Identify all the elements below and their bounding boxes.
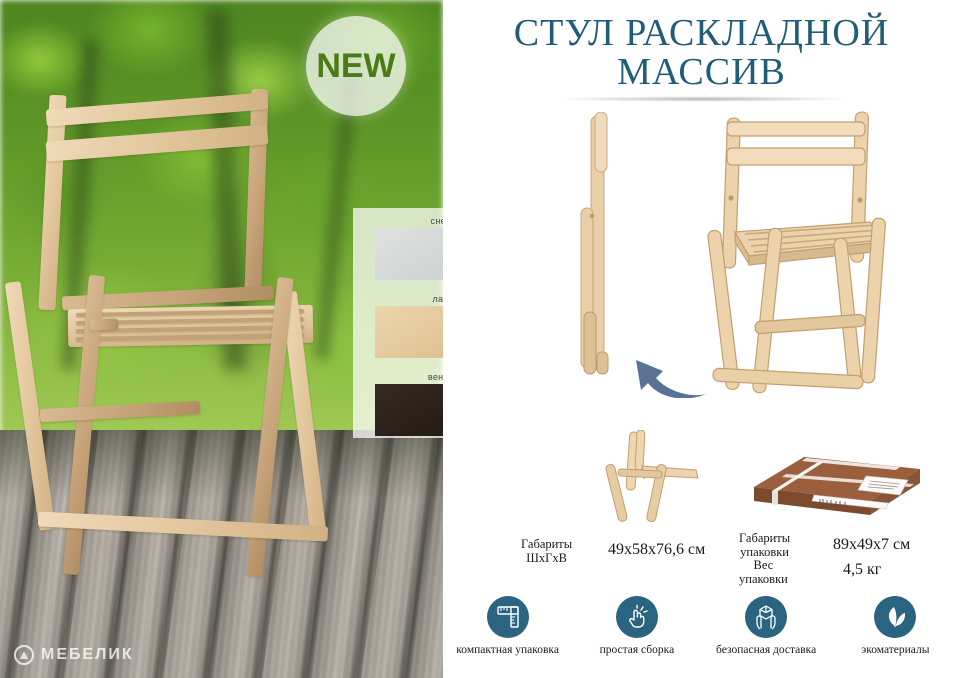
brand-logo: МЕБЕЛИК xyxy=(14,645,134,665)
spec-weight-key: Вес упаковки xyxy=(739,558,788,587)
folded-chair-render xyxy=(575,112,623,387)
feature-icon-badge xyxy=(487,596,529,638)
spec-weight-key-line2: упаковки xyxy=(739,572,788,586)
flat-cardboard-box-render xyxy=(748,443,926,523)
open-chair-render xyxy=(705,110,925,395)
spec-package-value: 89x49x7 см xyxy=(833,536,910,554)
new-badge: NEW xyxy=(306,16,406,116)
spec-dimensions-value: 49x58x76,6 см xyxy=(608,541,705,559)
feature-icon-badge xyxy=(874,596,916,638)
brand-name: МЕБЕЛИК xyxy=(41,646,134,664)
title-divider xyxy=(498,96,908,102)
side-chair-render xyxy=(600,430,720,525)
spec-dimensions-key-line1: Габариты xyxy=(521,537,572,551)
feature-safe-delivery: безопасная доставка xyxy=(704,596,829,657)
spec-package-key-line1: Габариты xyxy=(739,531,790,545)
mebelik-circle-logo-icon xyxy=(14,645,34,665)
curved-fold-arrow-icon xyxy=(632,352,710,398)
feature-label: простая сборка xyxy=(600,644,675,657)
spec-dimensions-key: Габариты ШхГхВ xyxy=(521,537,572,566)
title-line-2: МАССИВ xyxy=(443,53,960,92)
feature-row: компактная упаковка простая сборка xyxy=(443,596,960,678)
folding-chair-photo xyxy=(10,95,410,625)
product-infographic: NEW МЕБЕЛИК снег лак венге СТУЛ РАСКЛАДН… xyxy=(0,0,960,678)
feature-label: компактная упаковка xyxy=(456,644,559,657)
hands-holding-box-icon xyxy=(752,603,780,631)
ruler-icon xyxy=(495,604,521,630)
feature-icon-badge xyxy=(745,596,787,638)
feature-easy-assembly: простая сборка xyxy=(574,596,699,657)
feature-label: экоматериалы xyxy=(861,644,929,657)
spec-package-key: Габариты упаковки xyxy=(739,531,790,560)
leaves-icon xyxy=(882,604,908,630)
page-title: СТУЛ РАСКЛАДНОЙ МАССИВ xyxy=(443,14,960,92)
feature-label: безопасная доставка xyxy=(716,644,816,657)
feature-eco-materials: экоматериалы xyxy=(833,596,958,657)
spec-dimensions-key-line2: ШхГхВ xyxy=(521,551,572,565)
feature-compact-packaging: компактная упаковка xyxy=(445,596,570,657)
title-line-1: СТУЛ РАСКЛАДНОЙ xyxy=(443,14,960,53)
hand-click-icon xyxy=(624,604,650,630)
feature-icon-badge xyxy=(616,596,658,638)
new-badge-label: NEW xyxy=(316,47,395,86)
spec-weight-key-line1: Вес xyxy=(739,558,788,572)
spec-weight-value: 4,5 кг xyxy=(843,561,881,579)
